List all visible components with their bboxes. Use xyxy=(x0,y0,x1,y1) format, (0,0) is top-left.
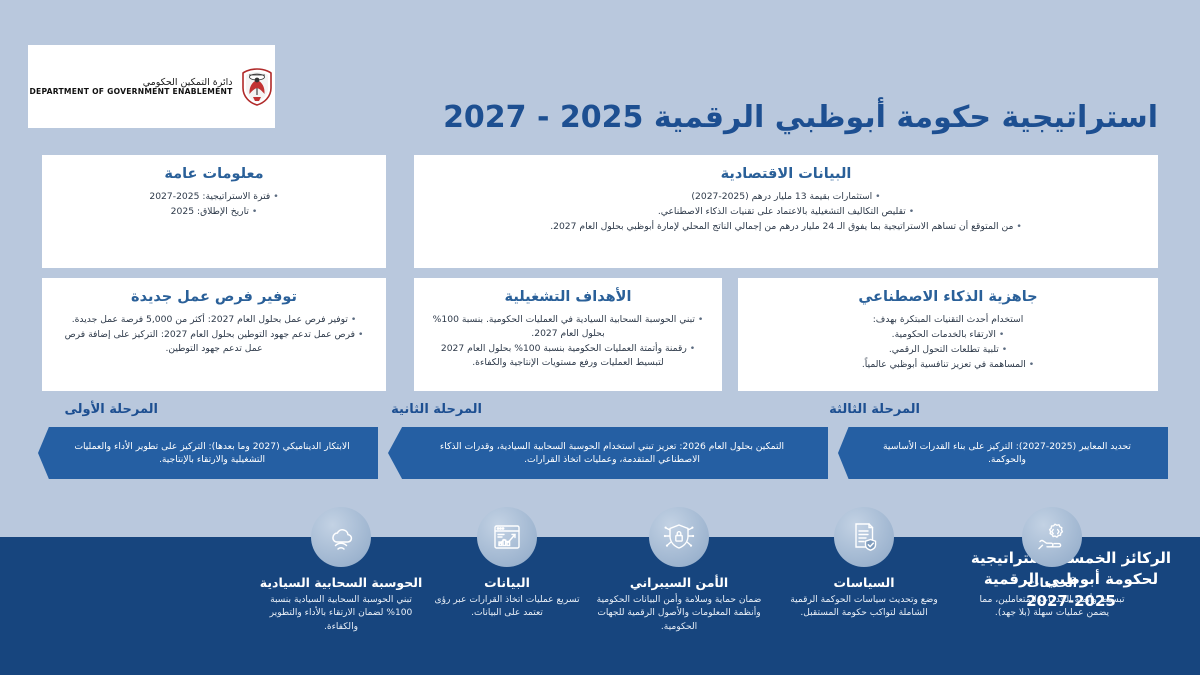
list-item: تقليص التكاليف التشغيلية بالاعتماد على ت… xyxy=(430,205,1142,219)
pillar-title: الأمن السيبراني xyxy=(590,575,768,590)
phase-chevron-2: التمكين بحلول العام 2026: تعزيز تبني است… xyxy=(388,427,828,479)
infographic-root: استراتيجية حكومة أبوظبي الرقمية 2025 - 2… xyxy=(0,0,1200,675)
page-title: استراتيجية حكومة أبوظبي الرقمية 2025 - 2… xyxy=(443,100,1158,135)
card-title: معلومات عامة xyxy=(58,166,370,183)
document-check-icon xyxy=(834,507,894,567)
phase-chevron-3: الابتكار الديناميكي (2027 وما بعدها): ال… xyxy=(38,427,378,479)
pillar-title: السياسات xyxy=(778,575,950,590)
card-bullet-list: تبني الحوسبة السحابية السيادية في العملي… xyxy=(430,313,706,369)
pillar-description: وضع وتحديث سياسات الحوكمة الرقمية الشامل… xyxy=(778,594,950,621)
pillar-description: ضمان حماية وسلامة وأمن البيانات الحكومية… xyxy=(590,594,768,634)
list-item: تاريخ الإطلاق: 2025 xyxy=(58,205,370,219)
card-bullet-list: استثمارات بقيمة 13 مليار درهم (2025-2027… xyxy=(430,190,1142,233)
list-item: الارتقاء بالخدمات الحكومية. xyxy=(754,328,1142,342)
logo-box: دائرة التمكين الحكومي DEPARTMENT OF GOVE… xyxy=(28,45,275,128)
shield-lock-icon xyxy=(649,507,709,567)
pillar-title: الخدمات xyxy=(966,575,1138,590)
logo-english-text: DEPARTMENT OF GOVERNMENT ENABLEMENT xyxy=(29,88,232,96)
hand-gear-icon xyxy=(1022,507,1082,567)
phase-text-1: تحديد المعايير (2025-2027): التركيز على … xyxy=(838,440,1168,467)
list-item: فرص عمل تدعم جهود التوطين بحلول العام 20… xyxy=(58,328,370,356)
list-item: المساهمة في تعزيز تنافسية أبوظبي عالمياً… xyxy=(754,358,1142,372)
list-item: فترة الاستراتيجية: 2025-2027 xyxy=(58,190,370,204)
list-item: تبني الحوسبة السحابية السيادية في العملي… xyxy=(430,313,706,341)
phase-labels-row: المرحلة الأولى المرحلة الثانية المرحلة ا… xyxy=(0,402,1200,424)
phase-chevrons-row: تحديد المعايير (2025-2027): التركيز على … xyxy=(0,427,1200,479)
phase-label-1: المرحلة الأولى xyxy=(65,402,158,417)
card-bullet-list: فترة الاستراتيجية: 2025-2027 تاريخ الإطل… xyxy=(58,190,370,219)
card-new-jobs: توفير فرص عمل جديدة توفير فرص عمل بحلول … xyxy=(42,278,386,391)
card-title: توفير فرص عمل جديدة xyxy=(58,289,370,306)
card-economic-data: البيانات الاقتصادية استثمارات بقيمة 13 م… xyxy=(414,155,1158,268)
card-bullet-list: توفير فرص عمل بحلول العام 2027: أكثر من … xyxy=(58,313,370,355)
logo-arabic-text: دائرة التمكين الحكومي xyxy=(143,78,233,88)
phase-text-2: التمكين بحلول العام 2026: تعزيز تبني است… xyxy=(388,440,828,467)
card-title: جاهزية الذكاء الاصطناعي xyxy=(754,289,1142,306)
falcon-emblem-icon xyxy=(240,68,274,106)
card-general-info: معلومات عامة فترة الاستراتيجية: 2025-202… xyxy=(42,155,386,268)
pillar-description: تبني الحوسبة السحابية السيادية بنسبة 100… xyxy=(252,594,430,634)
card-operational-goals: الأهداف التشغيلية تبني الحوسبة السحابية … xyxy=(414,278,722,391)
list-item: رقمنة وأتمتة العمليات الحكومية بنسبة 100… xyxy=(430,342,706,370)
cloud-icon xyxy=(311,507,371,567)
card-title: الأهداف التشغيلية xyxy=(430,289,706,306)
data-dashboard-icon xyxy=(477,507,537,567)
pillar-description: تبسيط وأتمتة الخدمات للمتعاملين، مما يضم… xyxy=(966,594,1138,621)
header: استراتيجية حكومة أبوظبي الرقمية 2025 - 2… xyxy=(0,40,1200,140)
pillar-title: البيانات xyxy=(428,575,586,590)
card-ai-readiness: جاهزية الذكاء الاصطناعي استخدام أحدث الت… xyxy=(738,278,1158,391)
phase-chevron-1: تحديد المعايير (2025-2027): التركيز على … xyxy=(838,427,1168,479)
pillar-title: الحوسبة السحابية السيادية xyxy=(252,575,430,590)
card-lead-text: استخدام أحدث التقنيات المبتكرة بهدف: xyxy=(754,313,1142,327)
list-item: توفير فرص عمل بحلول العام 2027: أكثر من … xyxy=(58,313,370,327)
card-bullet-list: الارتقاء بالخدمات الحكومية. تلبية تطلعات… xyxy=(754,328,1142,371)
card-title: البيانات الاقتصادية xyxy=(430,166,1142,183)
pillar-description: تسريع عمليات اتخاذ القرارات عبر رؤى تعتم… xyxy=(428,594,586,621)
list-item: من المتوقع أن تساهم الاستراتيجية بما يفو… xyxy=(430,220,1142,234)
list-item: استثمارات بقيمة 13 مليار درهم (2025-2027… xyxy=(430,190,1142,204)
phase-label-2: المرحلة الثانية xyxy=(391,402,482,417)
phase-text-3: الابتكار الديناميكي (2027 وما بعدها): ال… xyxy=(38,440,378,467)
phase-label-3: المرحلة الثالثة xyxy=(829,402,920,417)
list-item: تلبية تطلعات التحول الرقمي. xyxy=(754,343,1142,357)
